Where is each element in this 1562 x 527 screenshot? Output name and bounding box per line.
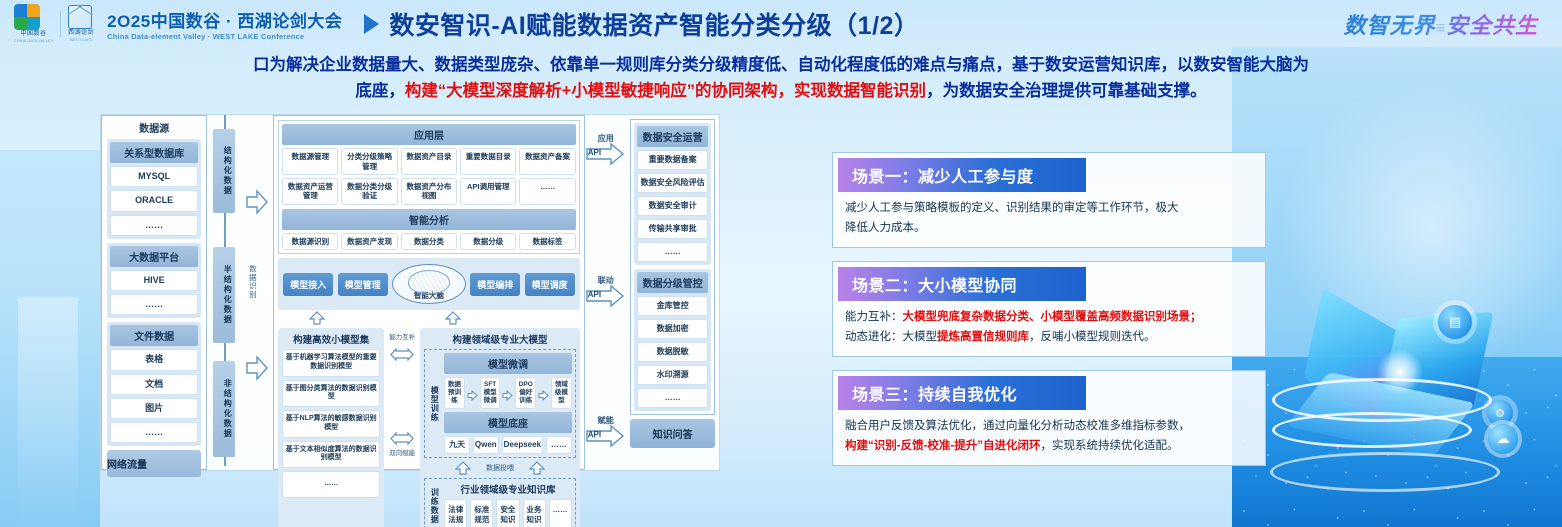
model-base-row: 九天 Qwen Deepseek ……: [444, 436, 572, 454]
kb-item: ……: [549, 499, 572, 527]
api-label: API: [588, 430, 601, 439]
api-arrow-icon: API: [585, 284, 625, 308]
governance-item: 数据加密: [637, 319, 708, 339]
model-base-item: Deepseek: [502, 436, 543, 454]
slogan-left: 数智无界: [1344, 13, 1436, 38]
analysis-item: 数据源识别: [282, 233, 338, 250]
application-layer-title: 应用层: [282, 124, 576, 145]
grading-control-group: 数据分级管控 金库管控 数据加密 数据脱敏 水印溯源 ……: [634, 269, 711, 411]
data-source-title: 数据源: [107, 120, 201, 135]
governance-item: 数据安全风险评估: [637, 173, 708, 193]
data-source-group: 文件数据 表格 文档 图片 ……: [107, 322, 201, 446]
scenario-card-body: 减少人工参与策略模板的定义、识别结果的审定等工作环节，极大降低人力成本。: [833, 199, 1265, 238]
scenario-card: 场景一：减少人工参与度 减少人工参与策略模板的定义、识别结果的审定等工作环节，极…: [832, 152, 1266, 248]
bidirectional-arrow-icon: [390, 432, 414, 445]
up-arrow-icon: [444, 311, 462, 325]
model-training-box: 模型训练 模型微调 数据预训练 SFT模型微调 DPO偏: [424, 349, 576, 458]
data-source-item: MYSQL: [110, 166, 198, 187]
model-schedule-button[interactable]: 模型调度: [525, 273, 575, 296]
up-arrow-icon: [454, 461, 472, 475]
app-item: 数据分类分级验证: [341, 178, 397, 205]
headline-block: 口为解决企业数据量大、数据类型庞杂、依靠单一规则库分类分级精度低、自动化程度低的…: [0, 47, 1562, 108]
slogan-separator: ≡: [1436, 20, 1446, 37]
data-source-item: ……: [110, 294, 198, 315]
api-label: API: [588, 148, 601, 157]
logo-en-label: CHINA DATA VALLEY: [14, 38, 53, 44]
group-header: 关系型数据库: [110, 142, 198, 163]
application-layer: 应用层 数据源管理 分类分级策略管理 数据资产目录 重要数据目录 数据资产备案 …: [278, 120, 580, 254]
right-arrow-icon: [467, 388, 478, 399]
right-arrow-icon: [502, 388, 513, 399]
training-data-label: 训练数据: [428, 482, 441, 527]
data-source-group: 关系型数据库 MYSQL ORACLE ……: [107, 139, 201, 239]
small-model-set: 构建高效小模型集 基于机器学习算法模型的重要数据识别模型 基于图分类算法的数据识…: [278, 328, 384, 527]
page-header: 中国数谷 CHINA DATA VALLEY 西湖论剑 WEST LAKE 2O…: [0, 0, 1562, 47]
chart-monitor-icon: ▤: [1438, 305, 1472, 339]
model-manage-button[interactable]: 模型管理: [338, 273, 388, 296]
governance-item: 金库管控: [637, 296, 708, 316]
model-arrange-button[interactable]: 模型编排: [470, 273, 520, 296]
data-type-spine: 结构化数据 半结构化数据 非结构化数据: [207, 115, 241, 470]
settings-slider-icon: ⚙: [1487, 400, 1513, 426]
model-orchestration-row: 模型接入 模型管理 智能大脑 模型编排 模型调度: [278, 258, 580, 310]
finetune-title: 模型微调: [444, 353, 572, 374]
kb-item: 业务知识: [523, 499, 546, 527]
data-feed-row: 数据投喂: [424, 461, 576, 475]
play-triangle-icon: [364, 14, 379, 34]
knowledge-base-box: 训练数据 行业领域级专业知识库 法律法规 标准规范 安全知识 业务知识 ……: [424, 478, 576, 527]
cube-ring-icon: [1270, 452, 1500, 492]
intelligent-brain-icon: 智能大脑: [392, 264, 466, 304]
logo-divider: [60, 11, 61, 37]
slogan-brand: 数智无界≡安全共生: [1344, 8, 1548, 40]
small-model-item: 基于NLP算法的敏感数据识别模型: [282, 410, 380, 438]
finetune-stage: SFT模型微调: [480, 377, 501, 409]
app-item: 数据资产分布视图: [401, 178, 457, 205]
application-layer-row-2: 数据资产运营管理 数据分类分级验证 数据资产分布视图 API调用管理 ……: [282, 178, 576, 205]
governance-item: ……: [637, 388, 708, 408]
large-model-title: 构建领域级专业大模型: [424, 332, 576, 346]
governance-panel: 数据安全运营 重要数据备案 数据安全风险评估 数据安全审计 传输共享审批 …… …: [626, 115, 719, 470]
model-training-label: 模型训练: [428, 353, 441, 454]
logo-cn-label: 中国数谷: [14, 30, 53, 38]
scenario-card: 场景二：大小模型协同 能力互补：大模型兜底复杂数据分类、小模型覆盖高频数据识别场…: [832, 261, 1266, 357]
small-model-item: 基于文本相似度算法的数据识别模型: [282, 441, 380, 469]
model-base-title: 模型底座: [444, 412, 572, 433]
group-header: 大数据平台: [110, 246, 198, 267]
model-base-item: 九天: [444, 436, 470, 454]
right-arrow-icon: [245, 355, 269, 381]
analysis-item: 数据标签: [519, 233, 575, 250]
analysis-layer-title: 智能分析: [282, 209, 576, 230]
west-lake-logo-icon: [68, 5, 92, 29]
group-header: 文件数据: [110, 325, 198, 346]
finetune-stage: DPO偏好训练: [515, 377, 536, 409]
analysis-item: 数据资产发现: [341, 233, 397, 250]
governance-item: 重要数据备案: [637, 150, 708, 170]
finetune-stage: 领域级模型: [551, 377, 572, 409]
app-item: 数据资产运营管理: [282, 178, 338, 205]
knowledge-base-items: 法律法规 标准规范 安全知识 业务知识 ……: [444, 499, 572, 527]
up-arrow-icon: [528, 461, 546, 475]
architecture-diagram: 数据源 关系型数据库 MYSQL ORACLE …… 大数据平台 HIVE ………: [100, 114, 720, 471]
api-link: 应用 API: [585, 133, 627, 166]
platform-core-panel: 应用层 数据源管理 分类分级策略管理 数据资产目录 重要数据目录 数据资产备案 …: [273, 115, 585, 470]
data-source-item: 文档: [110, 374, 198, 395]
data-feed-label: 数据投喂: [486, 463, 514, 473]
model-access-button[interactable]: 模型接入: [283, 273, 333, 296]
logo2-en-label: WEST LAKE: [68, 37, 94, 43]
api-arrow-icon: API: [585, 142, 625, 166]
model-synergy-arrows: 能力互补 双向赋能: [388, 328, 416, 527]
scenario-card-body: 能力互补：大模型兜底复杂数据分类、小模型覆盖高频数据识别场景；动态进化：大模型提…: [833, 308, 1265, 347]
app-item: 数据资产备案: [519, 148, 575, 175]
application-layer-row-1: 数据源管理 分类分级策略管理 数据资产目录 重要数据目录 数据资产备案: [282, 148, 576, 175]
kb-item: 标准规范: [470, 499, 493, 527]
slogan-right: 安全共生: [1446, 13, 1538, 38]
api-link: 联动 API: [585, 275, 627, 308]
data-source-item: 表格: [110, 349, 198, 370]
api-connectors: 应用 API 联动 API 赋能 API: [585, 115, 626, 470]
data-type-tag: 半结构化数据: [213, 247, 235, 343]
api-link: 赋能 API: [585, 415, 627, 448]
analysis-item: 数据分级: [460, 233, 516, 250]
knowledge-qa-item: 知识问答: [630, 419, 715, 448]
headline-emphasis: 构建“大模型深度解析+小模型敏捷响应”的协同架构，实现数据智能识别: [405, 82, 926, 100]
data-source-item: 图片: [110, 398, 198, 419]
scenario-card-title: 场景二：大小模型协同: [838, 267, 1086, 301]
small-model-item: ……: [282, 471, 380, 498]
knowledge-base-title: 行业领域级专业知识库: [444, 482, 572, 496]
scenario-card-body: 融合用户反馈及算法优化，通过向量化分析动态校准多维指标参数，构建“识别-反馈-校…: [833, 417, 1265, 456]
governance-item: 数据安全审计: [637, 196, 708, 216]
security-operation-group: 数据安全运营 重要数据备案 数据安全风险评估 数据安全审计 传输共享审批 ……: [634, 123, 711, 265]
api-arrow-icon: API: [585, 424, 625, 448]
scenario-cards: 场景一：减少人工参与度 减少人工参与策略模板的定义、识别结果的审定等工作环节，极…: [832, 152, 1266, 479]
right-arrow-icon: [538, 388, 549, 399]
app-item: 数据资产目录: [401, 148, 457, 175]
analysis-layer-row: 数据源识别 数据资产发现 数据分类 数据分级 数据标签: [282, 233, 576, 250]
cube-ring-icon: [1272, 412, 1472, 448]
api-label: API: [588, 290, 601, 299]
app-item: 分类分级策略管理: [341, 148, 397, 175]
data-identify-arrows: 数据识别: [241, 115, 273, 470]
logo2-cn-label: 西湖论剑: [68, 29, 94, 37]
app-item: ……: [519, 178, 575, 205]
bidirectional-arrow-icon: [390, 348, 414, 361]
data-source-item: ……: [110, 422, 198, 443]
model-base-item: ……: [546, 436, 572, 454]
scenario-card: 场景三：持续自我优化 融合用户反馈及算法优化，通过向量化分析动态校准多维指标参数…: [832, 370, 1266, 466]
analysis-item: 数据分类: [401, 233, 457, 250]
data-source-group: 大数据平台 HIVE ……: [107, 243, 201, 319]
data-type-tag: 结构化数据: [213, 129, 235, 213]
data-source-item: ORACLE: [110, 190, 198, 211]
background-left-glow: [0, 150, 100, 527]
data-source-item: ……: [110, 215, 198, 236]
group-header: 数据安全运营: [637, 126, 708, 147]
governance-item: 水印溯源: [637, 365, 708, 385]
page-title: 数安智识-AI赋能数据资产智能分类分级（1/2）: [389, 6, 919, 42]
domain-large-model: 构建领域级专业大模型 模型训练 模型微调 数据预训练 SFT模型微调: [420, 328, 580, 527]
intelligent-brain-label: 智能大脑: [414, 290, 444, 301]
governance-item: 数据脱敏: [637, 342, 708, 362]
right-arrow-icon: [245, 189, 269, 215]
governance-item: ……: [637, 242, 708, 262]
capability-complement-label: 能力互补: [389, 334, 415, 341]
conference-title-en: China Data-element Valley · WEST LAKE Co…: [107, 32, 342, 41]
cloud-icon: ☁: [1488, 424, 1518, 454]
small-model-item: 基于图分类算法的数据识别模型: [282, 380, 380, 408]
conference-logo: 中国数谷 CHINA DATA VALLEY 西湖论剑 WEST LAKE 2O…: [14, 4, 342, 44]
small-model-set-title: 构建高效小模型集: [282, 332, 380, 346]
model-base-item: Qwen: [473, 436, 499, 454]
network-traffic-item: 网络流量: [107, 450, 201, 477]
data-identify-label: 数据识别: [248, 265, 256, 299]
kb-item: 法律法规: [444, 499, 467, 527]
scenario-card-title: 场景一：减少人工参与度: [838, 158, 1086, 192]
app-item: API调用管理: [460, 178, 516, 205]
conference-title-cn: 2O25中国数谷 · 西湖论剑大会: [107, 7, 342, 32]
headline-line-2: 底座，构建“大模型深度解析+小模型敏捷响应”的协同架构，实现数据智能识别，为数据…: [18, 79, 1544, 105]
bidirectional-empower-label: 双向赋能: [389, 450, 415, 457]
scenario-card-title: 场景三：持续自我优化: [838, 376, 1086, 410]
data-type-tag: 非结构化数据: [213, 361, 235, 457]
data-source-item: HIVE: [110, 270, 198, 291]
app-item: 重要数据目录: [460, 148, 516, 175]
kb-item: 安全知识: [496, 499, 519, 527]
app-item: 数据源管理: [282, 148, 338, 175]
governance-item: 传输共享审批: [637, 219, 708, 239]
data-valley-logo-icon: [14, 4, 40, 30]
data-source-panel: 数据源 关系型数据库 MYSQL ORACLE …… 大数据平台 HIVE ………: [101, 115, 207, 470]
finetune-stages: 数据预训练 SFT模型微调 DPO偏好训练: [444, 377, 572, 409]
up-arrow-icon: [308, 311, 326, 325]
group-header: 数据分级管控: [637, 272, 708, 293]
finetune-stage: 数据预训练: [444, 377, 465, 409]
small-model-item: 基于机器学习算法模型的重要数据识别模型: [282, 349, 380, 377]
model-construction-row: 构建高效小模型集 基于机器学习算法模型的重要数据识别模型 基于图分类算法的数据识…: [278, 328, 580, 527]
headline-line-1: 口为解决企业数据量大、数据类型庞杂、依靠单一规则库分类分级精度低、自动化程度低的…: [18, 53, 1544, 79]
